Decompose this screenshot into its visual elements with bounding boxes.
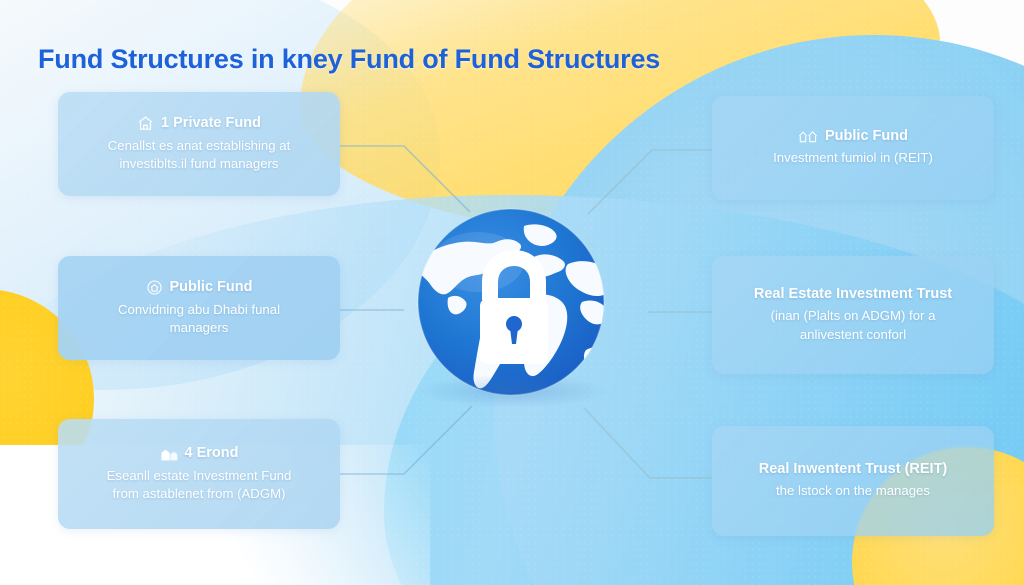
- card-body: Eseanll estate Investment Fund from asta…: [72, 467, 326, 503]
- card-body-line-1: Eseanll estate Investment Fund: [72, 467, 326, 485]
- card-heading-text: Real Inwentent Trust (REIT): [759, 461, 948, 477]
- card-right-reit-stock[interactable]: Real Inwentent Trust (REIT) the lstock o…: [712, 426, 994, 536]
- card-heading-text: Public Fund: [825, 128, 908, 144]
- card-heading-text: Real Estate Investment Trust: [754, 286, 952, 302]
- card-body-line-1: the lstock on the manages: [726, 482, 980, 500]
- card-heading-row: Real Inwentent Trust (REIT): [726, 461, 980, 477]
- card-left-private-fund[interactable]: 1 Private Fund Cenallst es anat establis…: [58, 92, 340, 196]
- card-body-line-2: from astablenet from (ADGM): [72, 485, 326, 503]
- page-title: Fund Structures in kney Fund of Fund Str…: [38, 44, 660, 75]
- card-body-line-1: (inan (Plalts on ADGM) for a: [726, 307, 980, 325]
- card-body-line-1: Investment fumiol in (REIT): [726, 149, 980, 167]
- double-house-icon: [798, 128, 818, 144]
- card-right-reit-adgm[interactable]: Real Estate Investment Trust (inan (Plal…: [712, 256, 994, 374]
- card-body: Cenallst es anat establishing at investi…: [72, 137, 326, 173]
- card-left-public-fund[interactable]: Public Fund Convidning abu Dhabi funal m…: [58, 256, 340, 360]
- card-left-fund[interactable]: 4 Erond Eseanll estate Investment Fund f…: [58, 419, 340, 529]
- card-heading-row: 4 Erond: [72, 445, 326, 462]
- card-heading-row: Public Fund: [72, 279, 326, 296]
- card-heading-text: Public Fund: [170, 279, 253, 295]
- card-body-line-2: managers: [72, 319, 326, 337]
- card-heading-row: Public Fund: [726, 128, 980, 144]
- card-body: Investment fumiol in (REIT): [726, 149, 980, 167]
- card-heading-row: Real Estate Investment Trust: [726, 286, 980, 302]
- card-heading-row: 1 Private Fund: [72, 115, 326, 132]
- card-right-public-fund[interactable]: Public Fund Investment fumiol in (REIT): [712, 96, 994, 200]
- card-body-line-1: Convidning abu Dhabi funal: [72, 301, 326, 319]
- card-body: Convidning abu Dhabi funal managers: [72, 301, 326, 337]
- card-body: (inan (Plalts on ADGM) for a anlivestent…: [726, 307, 980, 343]
- card-body-line-2: anlivestent conforl: [726, 326, 980, 344]
- buildings-icon: [160, 445, 178, 462]
- globe-shadow: [414, 374, 610, 408]
- card-heading-text: 4 Erond: [185, 445, 239, 461]
- card-body-line-2: investiblts.il fund managers: [72, 155, 326, 173]
- card-body: the lstock on the manages: [726, 482, 980, 500]
- bank-house-icon: [137, 115, 154, 132]
- bank-house-circle-icon: [146, 279, 163, 296]
- card-body-line-1: Cenallst es anat establishing at: [72, 137, 326, 155]
- infographic-canvas: Fund Structures in kney Fund of Fund Str…: [0, 0, 1024, 585]
- center-graphic: [396, 202, 626, 422]
- card-heading-text: 1 Private Fund: [161, 115, 261, 131]
